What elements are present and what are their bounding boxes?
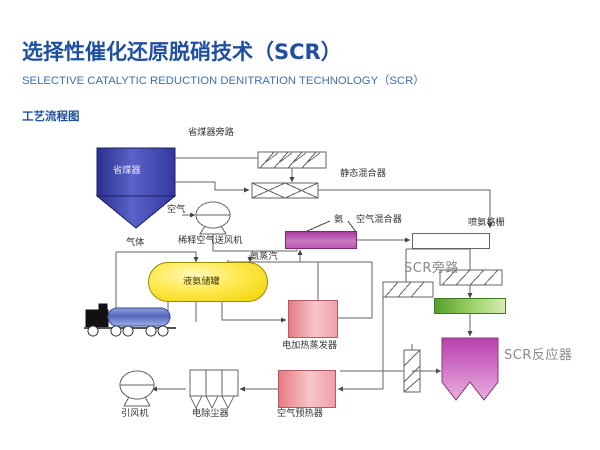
air-preheater-label: 空气预热器 <box>277 409 323 418</box>
economizer-bypass-damper <box>258 152 326 168</box>
air-mixer-label: 空气混合器 <box>356 215 402 224</box>
ammonia-air-mixer-shape <box>285 231 357 249</box>
scr-reactor-label: SCR反应器 <box>504 349 572 362</box>
injection-grid-label: 喷氨格栅 <box>468 218 505 227</box>
liquid-ammonia-tank-label: 液氨储罐 <box>183 277 220 286</box>
economizer-bypass-label: 省煤器旁路 <box>188 128 234 137</box>
induced-draft-fan-shape <box>120 371 154 406</box>
slide-canvas: 选择性催化还原脱硝技术（SCR） SELECTIVE CATALYTIC RED… <box>0 0 600 450</box>
scr-reactor-shape <box>442 338 498 400</box>
dilution-air-fan-shape <box>196 202 230 234</box>
economizer-shape <box>97 148 175 228</box>
esp-shape <box>190 370 238 408</box>
gas-label: 气体 <box>126 238 144 247</box>
scr-bypass-label: SCR旁路 <box>404 262 459 275</box>
ammonia-injection-grid-shape <box>412 233 490 249</box>
air-preheater-shape <box>278 370 336 408</box>
ammonia-label: 氨 <box>334 215 343 224</box>
induced-draft-fan-label: 引风机 <box>121 409 149 418</box>
esp-label: 电除尘器 <box>192 409 229 418</box>
economizer-label: 省煤器 <box>113 166 141 175</box>
electric-evaporator-shape <box>288 300 338 338</box>
ammonia-vapor-label: 氨蒸汽 <box>250 252 278 261</box>
dilution-air-fan-label: 稀释空气送风机 <box>178 236 242 245</box>
catalyst-layer-shape <box>434 298 506 314</box>
static-mixer-label: 静态混合器 <box>340 169 386 178</box>
electric-evaporator-label: 电加热蒸发器 <box>282 341 337 350</box>
process-flow-diagram: 液氨储罐 省煤器 省煤器旁路 静态混合器 空气 稀释空气送风机 气体 氨 空气混… <box>0 0 600 450</box>
tanker-truck-shape <box>84 304 176 336</box>
static-mixer-shape <box>252 183 318 198</box>
air-label: 空气 <box>167 205 185 214</box>
scr-bypass-left-damper <box>383 282 433 297</box>
